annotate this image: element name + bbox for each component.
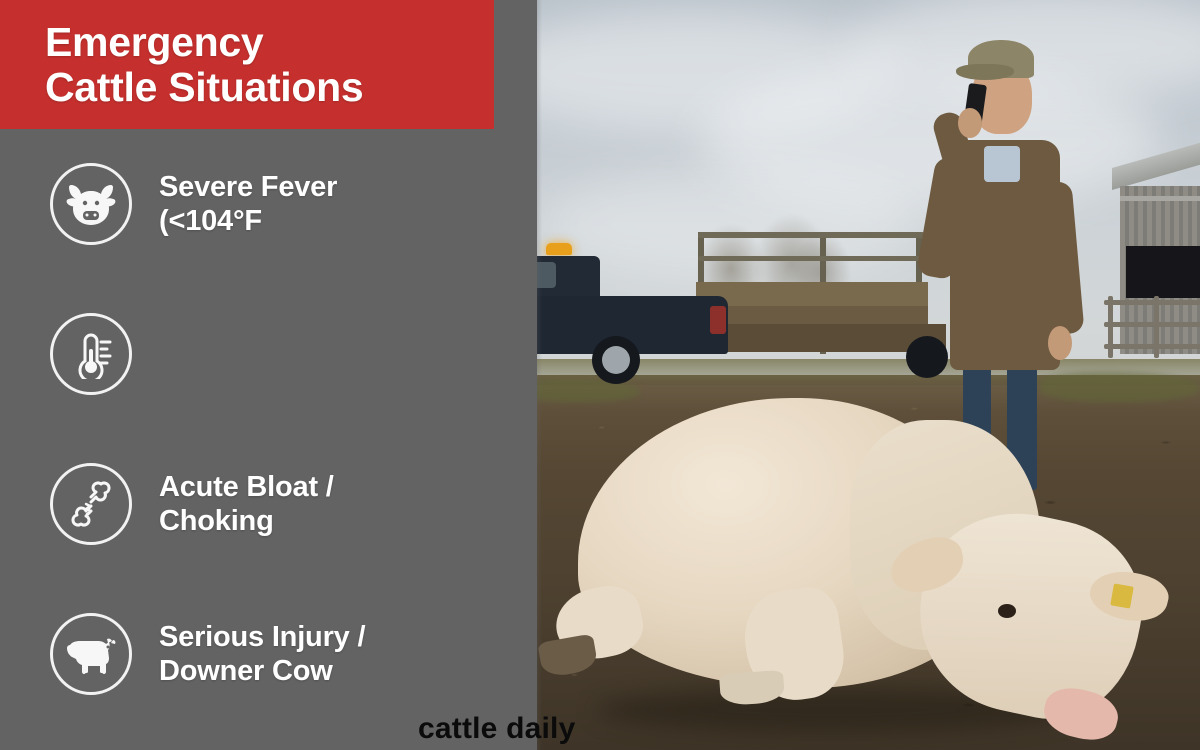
truck-rim: [602, 346, 630, 374]
cow-body-icon: [50, 613, 132, 695]
barn-trim: [1120, 196, 1200, 201]
corral-post: [1108, 296, 1113, 358]
farmer-cap-brim: [956, 64, 1014, 80]
trailer-rail: [698, 256, 924, 261]
ear-tag: [1110, 583, 1134, 608]
corral-post: [1154, 296, 1159, 358]
farmer-hand-left: [958, 108, 982, 138]
corral-rail: [1104, 322, 1200, 327]
broken-bone-icon: [50, 463, 132, 545]
corral-rail: [1104, 300, 1200, 305]
farmer-hand-right: [1048, 326, 1072, 360]
amber-beacon-light: [546, 243, 572, 255]
list-item-thermometer[interactable]: [0, 279, 537, 429]
trailer-wheel: [906, 336, 948, 378]
cow-eye: [998, 604, 1016, 618]
list-item-label: Acute Bloat / Choking: [159, 470, 334, 538]
cow-head-icon: [50, 163, 132, 245]
watermark: cattle daily: [418, 712, 575, 746]
thermometer-icon: [50, 313, 132, 395]
list-item-acute-bloat-choking[interactable]: Acute Bloat / Choking: [0, 429, 537, 579]
trailer-side: [696, 306, 928, 324]
list-item-serious-injury-downer-cow[interactable]: Serious Injury / Downer Cow: [0, 579, 537, 729]
left-info-panel: Emergency Cattle Situations: [0, 0, 537, 750]
trailer-side: [696, 282, 928, 306]
title-line-1: Emergency: [45, 20, 494, 64]
truck-taillight: [710, 306, 726, 334]
barn-opening: [1126, 246, 1200, 298]
trailer-rail: [698, 232, 924, 238]
farmer-collar: [984, 146, 1020, 182]
grass-patch: [1040, 372, 1200, 402]
infographic-canvas: Emergency Cattle Situations: [0, 0, 1200, 750]
corral-rail: [1104, 344, 1200, 349]
list-item-label: Severe Fever (<104°F: [159, 170, 337, 238]
list-item-severe-fever[interactable]: Severe Fever (<104°F: [0, 129, 537, 279]
photo-farmer-and-downer-cow: [520, 0, 1200, 750]
emergency-situations-list: Severe Fever (<104°F: [0, 129, 537, 729]
list-item-label: Serious Injury / Downer Cow: [159, 620, 365, 688]
title-line-2: Cattle Situations: [45, 65, 494, 109]
title-banner: Emergency Cattle Situations: [0, 0, 494, 129]
